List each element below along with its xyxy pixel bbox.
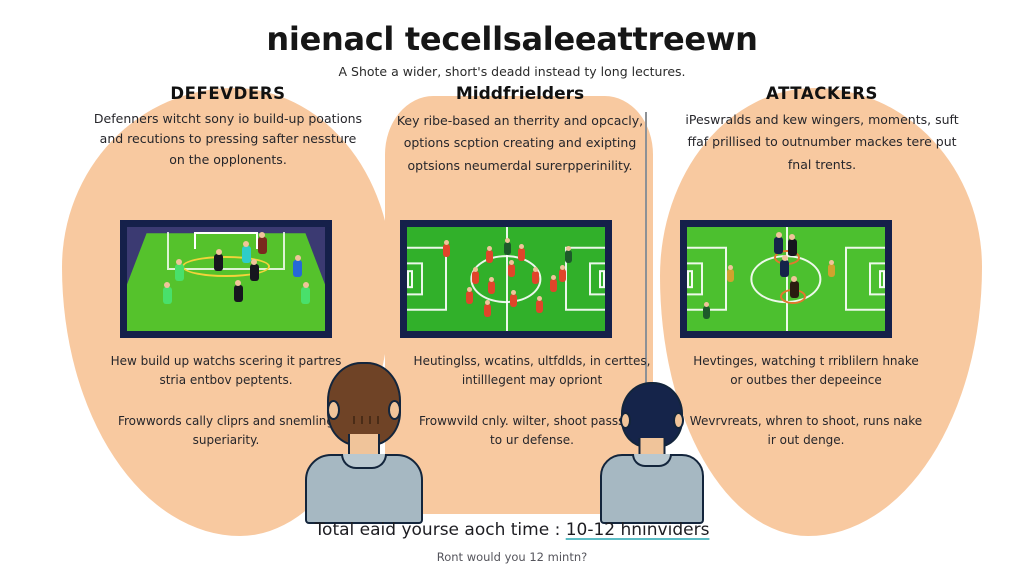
column-heading-midfielders: Middfrielders bbox=[370, 84, 670, 104]
player-marker bbox=[472, 271, 479, 284]
player-marker bbox=[788, 239, 797, 256]
pitch-frame-attackers bbox=[680, 220, 892, 338]
player-marker bbox=[774, 237, 783, 254]
column-defenders: DEFEVDERS Defenners witcht sony io build… bbox=[78, 84, 378, 170]
player-marker bbox=[565, 250, 572, 263]
footer-duration-link[interactable]: 10-12 hninviders bbox=[566, 520, 710, 540]
pitch-image-defenders[interactable] bbox=[120, 220, 332, 338]
pitch-frame-midfielders bbox=[400, 220, 612, 338]
player-marker bbox=[175, 264, 184, 281]
column-heading-defenders: DEFEVDERS bbox=[78, 84, 378, 103]
poster-canvas: nienacl tecellsaleeattreewn A Shote a wi… bbox=[0, 0, 1024, 585]
pitch-image-attackers[interactable] bbox=[680, 220, 892, 338]
player-marker bbox=[301, 287, 310, 304]
ear-right bbox=[388, 400, 401, 420]
hair-detail bbox=[353, 416, 379, 424]
column-midfielders: Middfrielders Key ribe-based an therrity… bbox=[370, 84, 670, 177]
player-marker bbox=[484, 304, 491, 317]
column-heading-attackers: ATTACKERS bbox=[672, 84, 972, 103]
footer-total-line: Total eaid yourse aoch time : 10-12 hnin… bbox=[0, 520, 1024, 540]
player-marker bbox=[258, 237, 267, 254]
player-marker bbox=[790, 281, 799, 298]
column-intro-attackers: iPeswralds and kew wingers, moments, suf… bbox=[672, 109, 972, 176]
goal-left bbox=[407, 270, 413, 288]
ear-left bbox=[620, 412, 631, 429]
ear-left bbox=[327, 400, 340, 420]
player-marker bbox=[550, 279, 557, 292]
player-marker bbox=[214, 254, 223, 271]
player-marker bbox=[703, 306, 710, 319]
pitch-image-midfielders[interactable] bbox=[400, 220, 612, 338]
pitch-frame-defenders bbox=[120, 220, 332, 338]
player-marker bbox=[486, 250, 493, 263]
caption-top-attackers: Hevtinges, watching t rriblilern hnake o… bbox=[686, 352, 926, 389]
page-title: nienacl tecellsaleeattreewn bbox=[0, 20, 1024, 58]
player-marker bbox=[727, 269, 734, 282]
center-circle bbox=[470, 255, 541, 303]
viewer-person-left bbox=[305, 362, 423, 522]
caption-bottom-attackers: Wevrvreats, whren to shoot, runs nake ir… bbox=[686, 412, 926, 449]
player-marker bbox=[559, 269, 566, 282]
goal-right bbox=[599, 270, 605, 288]
player-marker bbox=[504, 242, 511, 255]
player-marker bbox=[250, 264, 259, 281]
player-marker bbox=[234, 285, 243, 302]
player-marker bbox=[508, 264, 515, 277]
page-subtitle: A Shote a wider, short's deadd instead t… bbox=[0, 64, 1024, 79]
footer-prefix: Total eaid yourse aoch time : bbox=[315, 520, 566, 540]
goal-left bbox=[687, 270, 693, 288]
goal-right bbox=[879, 270, 885, 288]
player-marker bbox=[532, 271, 539, 284]
player-marker bbox=[780, 260, 789, 277]
player-marker bbox=[488, 281, 495, 294]
viewer-person-right bbox=[600, 382, 704, 522]
column-intro-defenders: Defenners witcht sony io build-up poatio… bbox=[78, 109, 378, 170]
column-intro-midfielders: Key ribe-based an therrity and opcacly, … bbox=[370, 110, 670, 177]
player-marker bbox=[828, 264, 835, 277]
player-marker bbox=[466, 291, 473, 304]
column-attackers: ATTACKERS iPeswralds and kew wingers, mo… bbox=[672, 84, 972, 176]
player-marker bbox=[443, 244, 450, 257]
player-marker bbox=[518, 248, 525, 261]
ear-right bbox=[673, 412, 684, 429]
player-marker bbox=[536, 300, 543, 313]
player-marker bbox=[163, 287, 172, 304]
player-marker bbox=[242, 246, 251, 263]
player-marker bbox=[510, 294, 517, 307]
footer-subtext: Ront would you 12 mintn? bbox=[0, 550, 1024, 564]
player-marker bbox=[293, 260, 302, 277]
